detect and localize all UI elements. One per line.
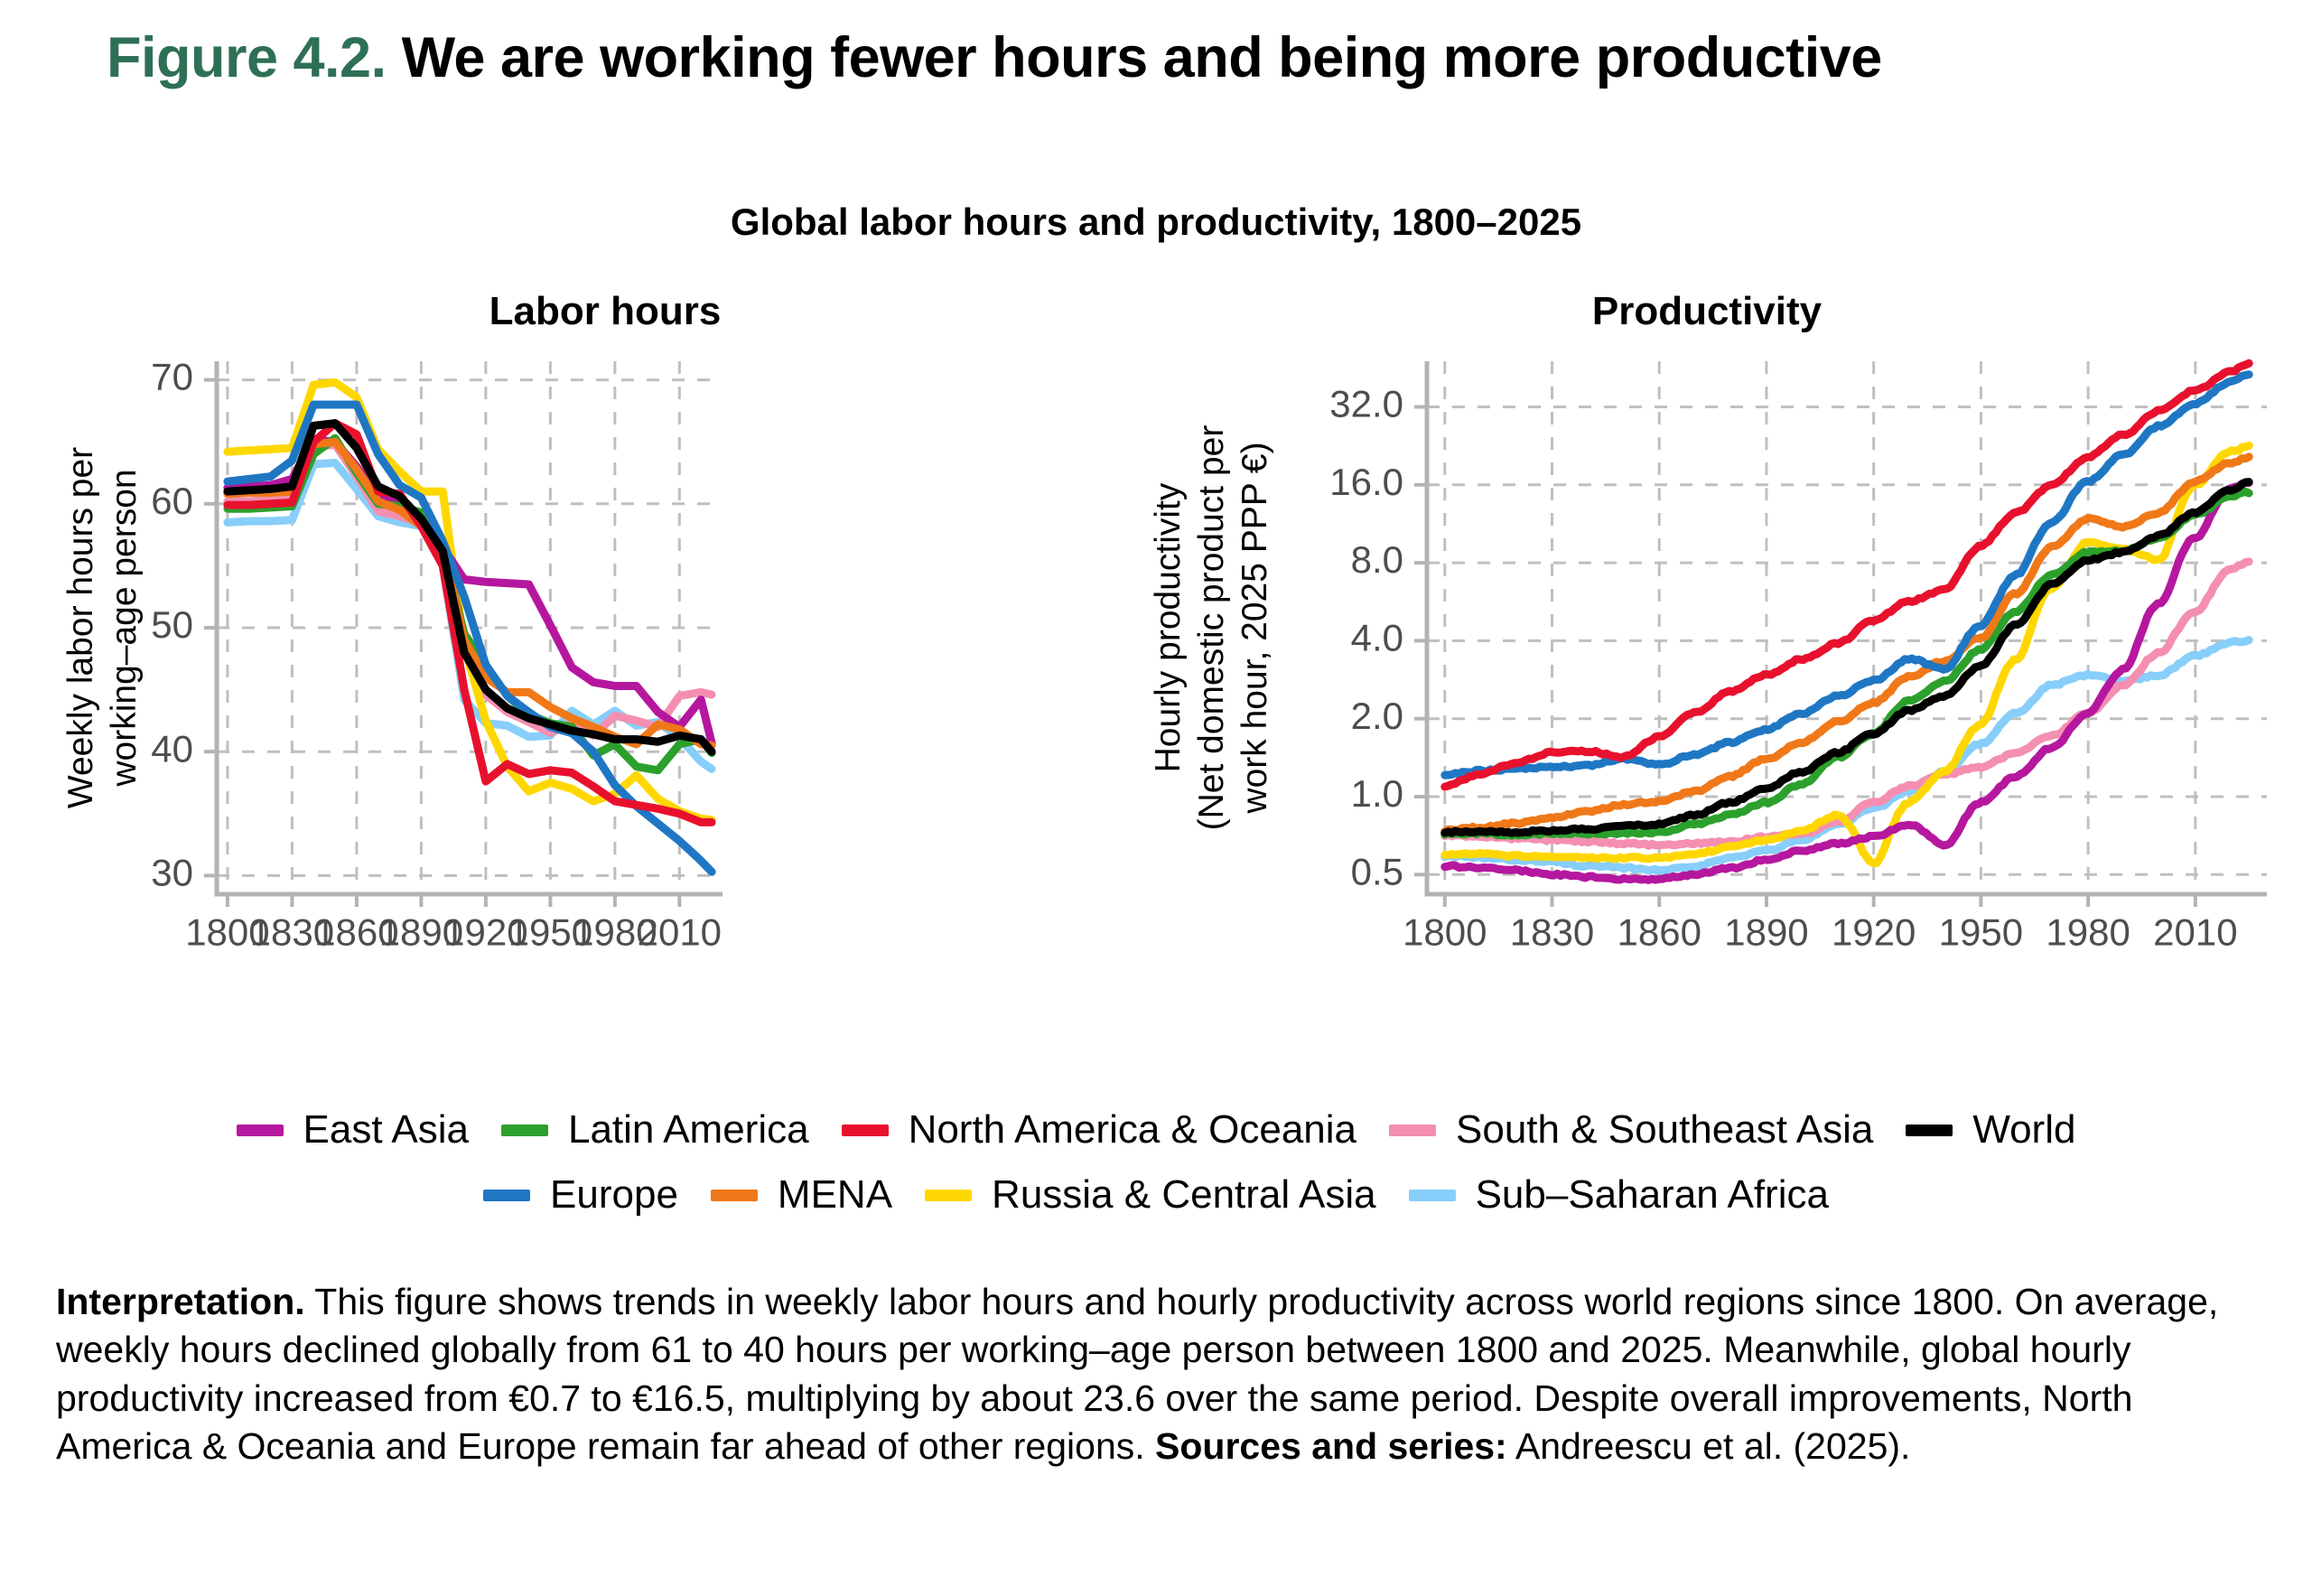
legend-swatch-icon: [1409, 1190, 1456, 1201]
figure-title: Figure 4.2. We are working fewer hours a…: [107, 25, 1882, 90]
x-tick-label: 1890: [1724, 910, 1808, 953]
sources-lead: Sources and series:: [1155, 1425, 1507, 1467]
legend-swatch-icon: [1906, 1125, 1953, 1136]
legend-item-europe[interactable]: Europe: [483, 1172, 678, 1218]
sources-body: Andreescu et al. (2025).: [1507, 1425, 1911, 1467]
y-axis-title-line: work hour, 2025 PPP €): [1235, 442, 1274, 814]
figure-number: Figure 4.2.: [107, 26, 387, 89]
chart-svg-labor-hours: 3040506070180018301860189019201950198020…: [54, 343, 741, 975]
y-tick-label: 30: [151, 852, 193, 894]
legend-row-1: East AsiaLatin AmericaNorth America & Oc…: [0, 1097, 2312, 1162]
legend-item-south-southeast-asia[interactable]: South & Southeast Asia: [1389, 1107, 1873, 1153]
y-axis-title-line: Weekly labor hours per: [61, 447, 100, 808]
series-line-south-southeast-asia: [1445, 562, 2249, 845]
y-tick-label: 8.0: [1351, 538, 1403, 581]
legend-label: Latin America: [568, 1107, 809, 1153]
series-line-mena: [1445, 457, 2249, 832]
y-tick-label: 16.0: [1329, 461, 1403, 503]
legend-label: East Asia: [303, 1107, 469, 1153]
figure-title-text: We are working fewer hours and being mor…: [402, 26, 1882, 89]
y-axis-title-line: (Net domestic product per: [1192, 425, 1231, 831]
chart-svg-productivity: 0.51.02.04.08.016.032.018001830186018901…: [1147, 343, 2294, 975]
legend-label: World: [1972, 1107, 2075, 1153]
panel-title-labor-hours: Labor hours: [307, 289, 903, 334]
x-tick-label: 1860: [1617, 910, 1701, 953]
y-axis-title-line: working–age person: [105, 469, 144, 787]
x-tick-label: 1950: [1939, 910, 2023, 953]
figure-page: Figure 4.2. We are working fewer hours a…: [0, 0, 2312, 1596]
y-tick-label: 0.5: [1351, 850, 1403, 892]
x-tick-label: 1920: [1832, 910, 1916, 953]
legend-swatch-icon: [711, 1190, 758, 1201]
x-tick-label: 1800: [1403, 910, 1487, 953]
y-tick-label: 40: [151, 727, 193, 770]
legend-swatch-icon: [925, 1190, 972, 1201]
legend-label: Europe: [550, 1172, 678, 1218]
chart-labor-hours: 3040506070180018301860189019201950198020…: [54, 343, 741, 975]
legend-label: North America & Oceania: [909, 1107, 1356, 1153]
legend-swatch-icon: [483, 1190, 530, 1201]
y-tick-label: 70: [151, 356, 193, 398]
legend-item-sub-saharan-africa[interactable]: Sub–Saharan Africa: [1409, 1172, 1829, 1218]
legend-label: Russia & Central Asia: [992, 1172, 1376, 1218]
legend-item-world[interactable]: World: [1906, 1107, 2075, 1153]
legend-label: MENA: [778, 1172, 892, 1218]
legend-item-russia-central-asia[interactable]: Russia & Central Asia: [925, 1172, 1376, 1218]
figure-subtitle: Global labor hours and productivity, 180…: [0, 201, 2312, 244]
legend-row-2: EuropeMENARussia & Central AsiaSub–Sahar…: [0, 1162, 2312, 1227]
series-line-russia-central-asia: [1445, 445, 2249, 863]
panel-title-productivity: Productivity: [1409, 289, 2005, 334]
y-tick-label: 2.0: [1351, 695, 1403, 737]
x-tick-label: 2010: [2153, 910, 2237, 953]
legend: East AsiaLatin AmericaNorth America & Oc…: [0, 1097, 2312, 1227]
interpretation-lead: Interpretation.: [56, 1281, 305, 1322]
interpretation-note: Interpretation. This figure shows trends…: [56, 1278, 2252, 1470]
x-tick-label: 2010: [638, 910, 722, 953]
legend-item-east-asia[interactable]: East Asia: [237, 1107, 469, 1153]
y-tick-label: 1.0: [1351, 772, 1403, 815]
legend-item-mena[interactable]: MENA: [711, 1172, 892, 1218]
x-tick-label: 1830: [1510, 910, 1594, 953]
legend-item-latin-america[interactable]: Latin America: [501, 1107, 809, 1153]
legend-swatch-icon: [237, 1125, 284, 1136]
y-tick-label: 50: [151, 603, 193, 646]
legend-label: South & Southeast Asia: [1456, 1107, 1873, 1153]
y-tick-label: 32.0: [1329, 383, 1403, 425]
y-tick-label: 4.0: [1351, 616, 1403, 658]
chart-productivity: 0.51.02.04.08.016.032.018001830186018901…: [1147, 343, 2294, 975]
legend-swatch-icon: [842, 1125, 889, 1136]
legend-swatch-icon: [1389, 1125, 1436, 1136]
legend-item-north-america-oceania[interactable]: North America & Oceania: [842, 1107, 1356, 1153]
legend-swatch-icon: [501, 1125, 548, 1136]
legend-label: Sub–Saharan Africa: [1476, 1172, 1829, 1218]
y-axis-title-line: Hourly productivity: [1149, 482, 1188, 772]
x-tick-label: 1980: [2046, 910, 2130, 953]
y-tick-label: 60: [151, 480, 193, 522]
